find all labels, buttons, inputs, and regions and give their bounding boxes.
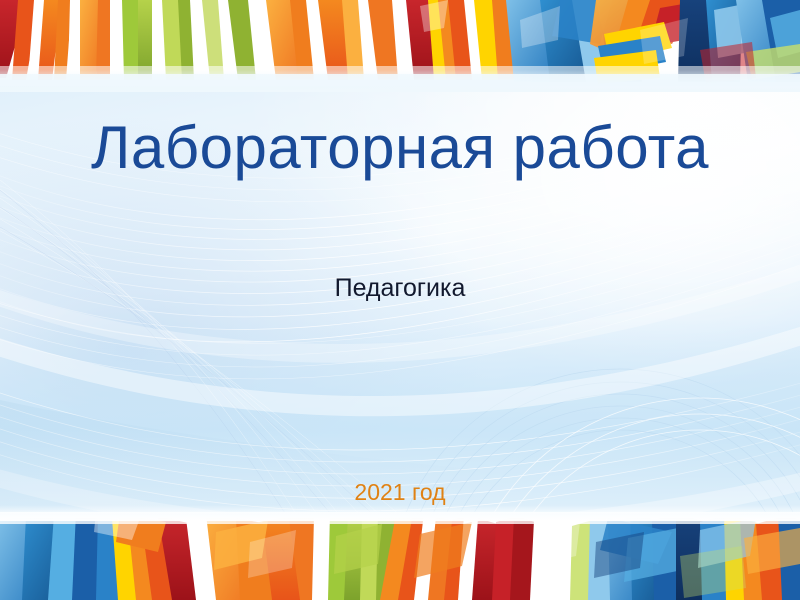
decorative-border-bottom [0,512,800,600]
slide-title: Лабораторная работа [0,113,800,183]
border-bottom-fade [0,505,800,521]
presentation-slide: Лабораторная работа Педагогика 2021 год [0,0,800,600]
border-top-fade [0,70,800,92]
slide-year: 2021 год [0,477,800,507]
slide-subtitle: Педагогика [0,272,800,304]
